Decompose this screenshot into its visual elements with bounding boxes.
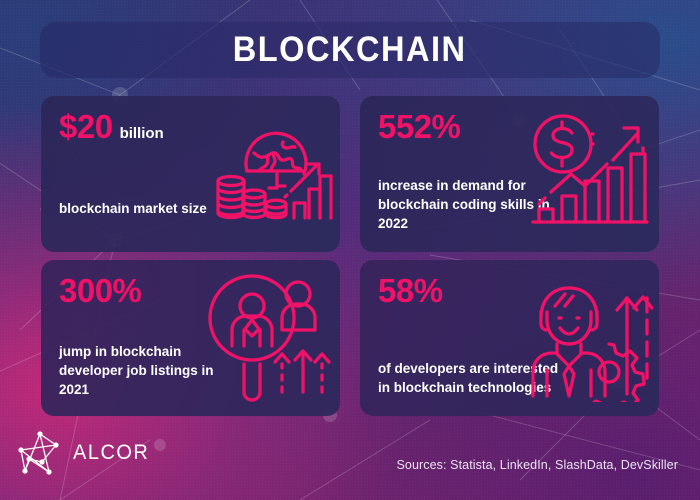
infographic-canvas: BLOCKCHAIN $20 billion blockchain market… [0, 0, 700, 500]
stat-card-market-size[interactable]: $20 billion blockchain market size [41, 96, 340, 252]
brand-name: ALCOR [73, 441, 149, 465]
stat-value: 58% [378, 274, 443, 307]
stat-card-job-listings[interactable]: 300% jump in blockchain developer job li… [41, 260, 340, 416]
developer-gear-arrows-icon [519, 268, 653, 407]
stat-description: blockchain market size [59, 199, 207, 218]
stat-card-developer-interest[interactable]: 58% of developers are interested in bloc… [360, 260, 659, 416]
brand-logo[interactable]: ALCOR [18, 428, 151, 478]
magnifier-people-arrows-icon [200, 268, 332, 407]
dollar-growth-chart-icon [525, 104, 655, 241]
stats-grid: $20 billion blockchain market size [41, 96, 659, 416]
globe-coins-bar-chart-icon [209, 106, 334, 239]
stat-card-coding-demand[interactable]: 552% increase in demand for blockchain c… [360, 96, 659, 252]
sources-text: Sources: Statista, LinkedIn, SlashData, … [396, 458, 678, 472]
constellation-a-icon [18, 428, 62, 478]
stat-unit: billion [120, 125, 164, 142]
page-title: BLOCKCHAIN [233, 30, 467, 70]
stat-value: 300% [59, 274, 141, 307]
stat-value: 552% [378, 110, 460, 143]
title-banner: BLOCKCHAIN [40, 22, 660, 78]
stat-value: $20 [59, 110, 113, 143]
